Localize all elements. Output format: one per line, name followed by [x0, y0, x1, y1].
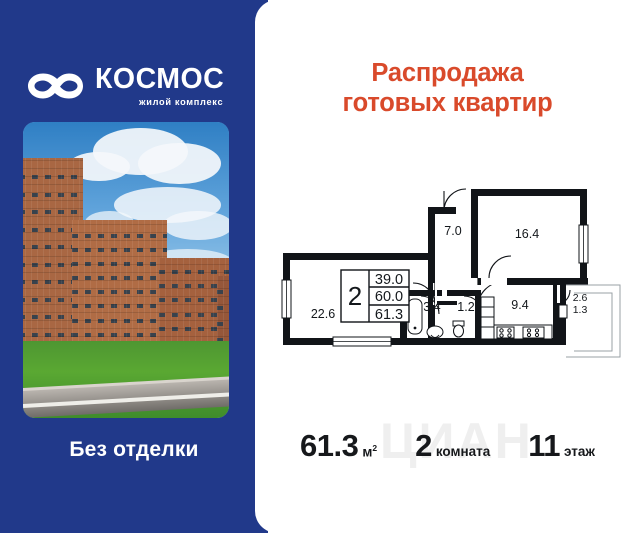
finish-caption: Без отделки [0, 438, 268, 462]
room-area-bathroom: 3.4 [423, 300, 440, 314]
plan-walls [283, 189, 588, 345]
room-area-living-room: 22.6 [311, 307, 335, 321]
brand-logo: КОСМОС жилой комплекс [26, 58, 242, 114]
infinity-icon [26, 69, 84, 103]
spec-area: 61.3 м2 [300, 428, 377, 464]
area-total: 61.3 [375, 307, 403, 323]
brand-panel: КОСМОС жилой комплекс [0, 0, 268, 533]
spec-floor-unit: этаж [564, 444, 595, 459]
info-card: Распродажа готовых квартир ЦИАН [255, 0, 640, 533]
wc-fixtures [453, 321, 464, 337]
specs-bar: 61.3 м2 2 комната 11 этаж [255, 428, 640, 476]
floor-plan-svg: 2 39.0 60.0 61.3 22.6 7.0 16.4 3.4 1.2 9… [275, 185, 635, 375]
room-area-kitchen: 9.4 [511, 298, 528, 312]
room-area-balcony-calc: 1.3 [573, 304, 588, 316]
spec-area-value: 61.3 [300, 428, 358, 464]
cloud [138, 143, 220, 184]
area-usable: 60.0 [375, 289, 403, 305]
building-photo [23, 122, 229, 418]
spec-area-unit: м2 [362, 443, 377, 460]
areas-table: 2 39.0 60.0 61.3 [341, 270, 409, 323]
room-area-bedroom: 16.4 [515, 227, 539, 241]
cloud [163, 211, 229, 241]
floor-plan: 2 39.0 60.0 61.3 22.6 7.0 16.4 3.4 1.2 9… [275, 185, 635, 375]
spec-rooms: 2 комната [415, 428, 490, 464]
area-living: 39.0 [375, 272, 403, 288]
brand-subtitle: жилой комплекс [139, 97, 223, 107]
spec-floor-value: 11 [528, 428, 560, 464]
room-area-wc: 1.2 [457, 300, 474, 314]
page-title: Распродажа готовых квартир [255, 58, 640, 118]
room-area-balcony-full: 2.6 [573, 292, 588, 304]
room-area-hallway: 7.0 [444, 224, 461, 238]
spec-rooms-value: 2 [415, 428, 432, 464]
spec-floor: 11 этаж [528, 428, 595, 464]
spec-rooms-unit: комната [436, 444, 490, 459]
rooms-badge: 2 [348, 281, 362, 311]
headline-line-2: готовых квартир [255, 88, 640, 118]
headline-line-1: Распродажа [255, 58, 640, 88]
brand-name: КОСМОС [95, 65, 224, 94]
listing-card: КОСМОС жилой комплекс [0, 0, 640, 533]
